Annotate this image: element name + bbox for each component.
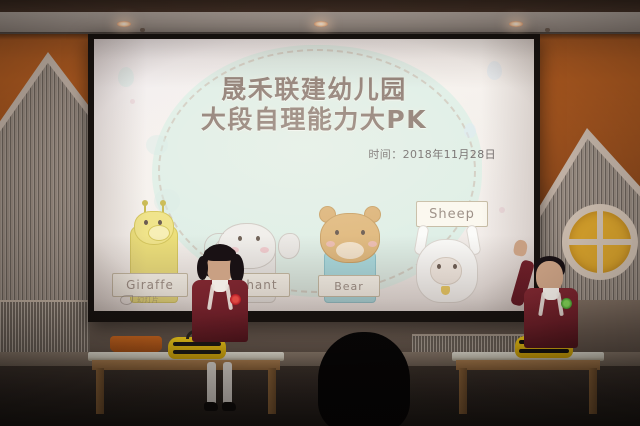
audience-head-silhouette [318, 332, 410, 426]
badge-flower [230, 294, 241, 305]
bear-eye [335, 230, 339, 235]
presentation-slide: 晟禾联建幼儿园 大段自理能力大PK 时间：2018年11月28日 [94, 39, 534, 311]
projection-screen: 晟禾联建幼儿园 大段自理能力大PK 时间：2018年11月28日 [88, 34, 540, 322]
sheep-illustration: Sheep [412, 181, 492, 303]
watermark-logo-icon [120, 295, 133, 305]
giraffe-illustration: Giraffe [122, 185, 192, 303]
shoe [204, 402, 218, 411]
desk-leg [96, 368, 104, 414]
slide-date: 时间：2018年11月28日 [368, 146, 496, 162]
slide-watermark: 幻灯片 [120, 295, 159, 305]
downlight-icon [117, 21, 131, 27]
student-right [510, 236, 582, 386]
elephant-cheek [260, 247, 269, 253]
slide-title: 晟禾联建幼儿园 大段自理能力大PK [94, 75, 534, 135]
bear-muzzle [336, 242, 364, 259]
downlight-icon [314, 21, 328, 27]
desk-leg [268, 368, 276, 414]
giraffe-snout [148, 225, 170, 241]
sheep-face [430, 257, 462, 285]
sheep-bell-icon [441, 286, 450, 295]
student-left [190, 244, 250, 414]
giraffe-eye [144, 220, 148, 225]
elephant-eye [238, 236, 242, 241]
raised-hand [513, 239, 529, 257]
leg [223, 362, 232, 406]
ceiling-fixture-nub [140, 28, 145, 32]
shoe [222, 402, 236, 411]
bear-eye [361, 230, 365, 235]
elephant-ear [278, 233, 300, 259]
bear-cheek [368, 241, 377, 247]
sheep-sign: Sheep [416, 201, 488, 227]
badge-flower [561, 298, 572, 309]
giraffe-sign: Giraffe [112, 273, 188, 297]
ceiling-fixture-nub [545, 28, 550, 32]
decor-dot [146, 135, 168, 155]
elephant-eye [256, 236, 260, 241]
sheep-eye [437, 264, 441, 269]
sheep-eye [453, 264, 457, 269]
screen-surface: 晟禾联建幼儿园 大段自理能力大PK 时间：2018年11月28日 [94, 39, 534, 311]
giraffe-eye [158, 220, 162, 225]
desk-left [88, 352, 284, 418]
wall-grille-left [0, 300, 90, 352]
leg [207, 362, 216, 406]
downlight-icon [509, 21, 523, 27]
pigtail [197, 256, 208, 280]
desk-leg [459, 368, 467, 414]
watermark-text: 幻灯片 [137, 295, 159, 305]
slide-animal-row: Giraffe Elephant [94, 181, 534, 303]
desk-leg [589, 368, 597, 414]
bear-cheek [326, 241, 335, 247]
slide-title-line1: 晟禾联建幼儿园 [221, 75, 407, 104]
slide-title-line2: 大段自理能力大PK [94, 105, 534, 135]
bear-sign: Bear [318, 275, 380, 297]
desk-apron-left [92, 360, 280, 370]
classroom-scene: 晟禾联建幼儿园 大段自理能力大PK 时间：2018年11月28日 [0, 0, 640, 426]
bear-illustration: Bear [318, 189, 390, 303]
